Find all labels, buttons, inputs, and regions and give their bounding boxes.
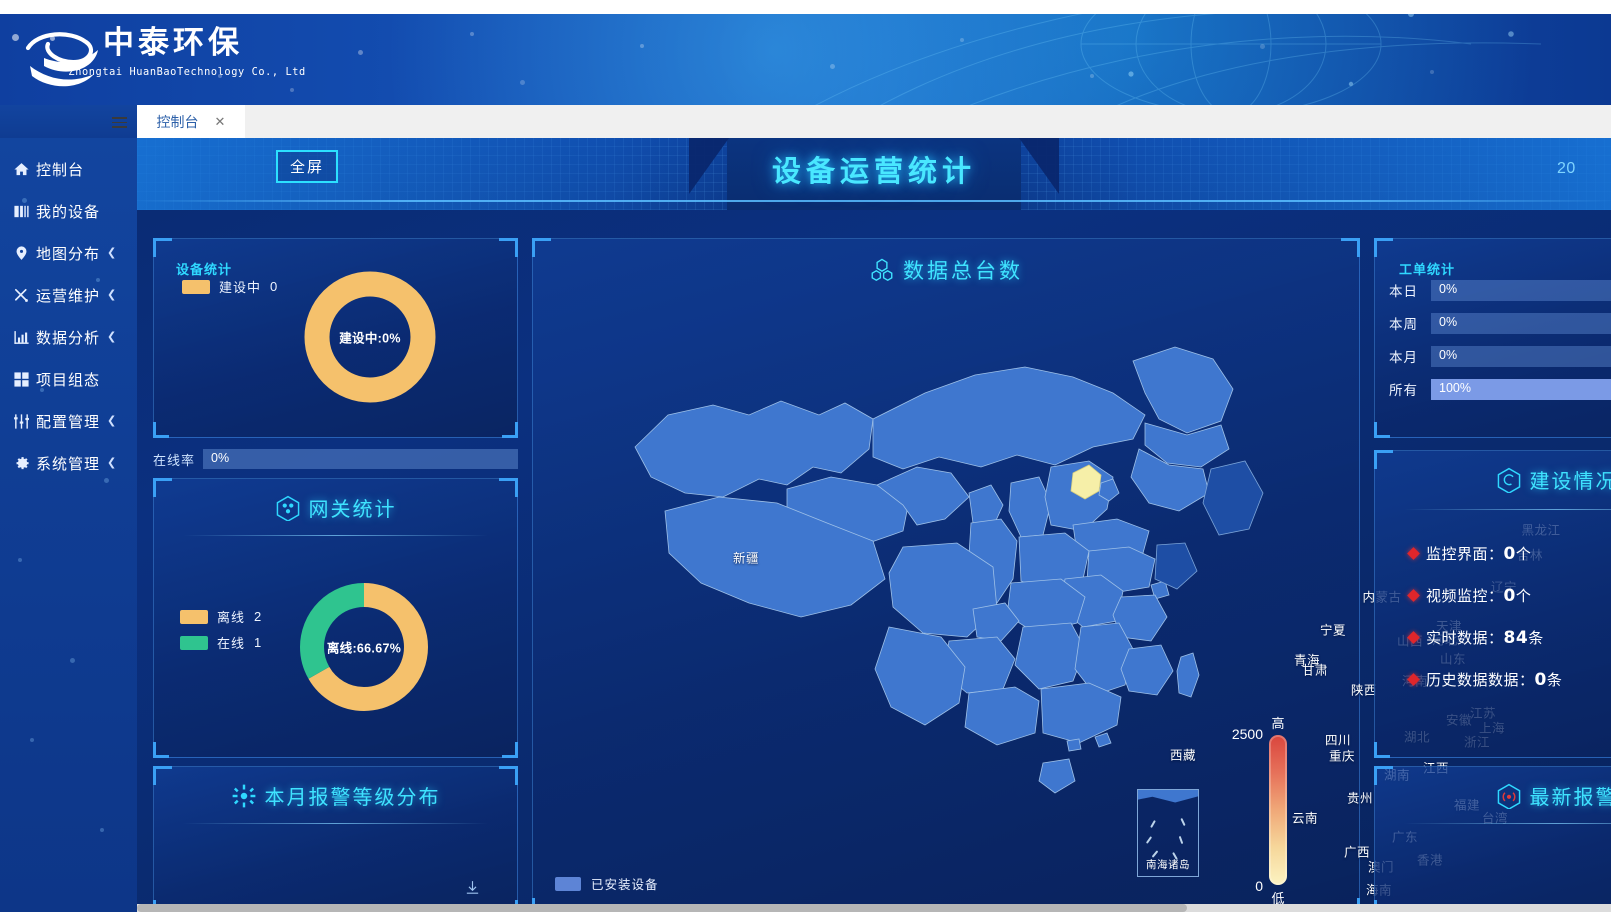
gateway-donut-chart: 离线:66.67% — [292, 575, 436, 719]
sidebar-item-label: 控制台 — [36, 159, 84, 180]
gateway-stats-title: 网关统计 — [309, 493, 397, 522]
scrollbar-thumb[interactable] — [137, 904, 1187, 912]
alarm-burst-icon — [231, 783, 257, 809]
map-panel-header: 数据总台数 — [533, 255, 1359, 285]
fullscreen-button[interactable]: 全屏 — [276, 150, 338, 183]
bullet-diamond-icon — [1407, 631, 1420, 644]
build-status-panel: 建设情况 监控界面：0个 视频监控：0个 实时数据：84条 历史 — [1374, 450, 1611, 758]
legend-swatch — [180, 610, 208, 624]
app-root: 中泰环保 Zhongtai HuanBaoTechnology Co., Ltd… — [0, 0, 1611, 912]
gateway-donut-center-label: 离线:66.67% — [292, 638, 436, 657]
chevron-icon: ❮ — [107, 290, 116, 301]
build-status-list: 监控界面：0个 视频监控：0个 实时数据：84条 历史数据数据：0条 — [1409, 543, 1562, 711]
china-map-svg[interactable] — [573, 297, 1333, 857]
province-label: 广西 — [1344, 842, 1370, 861]
online-rate-value: 0% — [211, 451, 229, 465]
gear-icon — [6, 455, 36, 472]
dashboard-stage: 设备运营统计 20 全屏 设备统计 建设中 0 建设中:0% 在线率 — [137, 138, 1611, 904]
latest-alarm-title: 最新报警 — [1530, 781, 1611, 810]
bullet-diamond-icon — [1407, 673, 1420, 686]
build-status-header: 建设情况 — [1375, 451, 1611, 494]
alarm-distribution-title: 本月报警等级分布 — [265, 781, 441, 810]
chevron-icon: ❮ — [107, 416, 116, 427]
work-order-row: 本月 0% — [1389, 345, 1611, 367]
nanhai-label: 南海诸岛 — [1138, 857, 1198, 872]
tools-icon — [6, 287, 36, 304]
sidebar-item-map-distribution[interactable]: 地图分布 ❮ — [0, 232, 137, 274]
row-bar: 0% — [1431, 280, 1611, 301]
list-item: 历史数据数据：0条 — [1409, 669, 1562, 690]
scale-min-value: 0 — [1255, 878, 1263, 894]
hex-cluster-icon — [869, 257, 895, 283]
sidebar-item-label: 系统管理 — [36, 453, 100, 474]
device-stats-legend: 建设中 0 — [182, 277, 278, 296]
hamburger-icon[interactable] — [112, 117, 127, 128]
legend-value: 2 — [254, 609, 262, 624]
chart-icon — [6, 329, 36, 346]
device-stats-panel: 设备统计 建设中 0 建设中:0% — [153, 238, 518, 438]
chevron-icon: ❮ — [107, 248, 116, 259]
legend-label: 建设中 — [219, 277, 261, 296]
legend-label: 离线 — [217, 607, 245, 626]
chevron-icon: ❮ — [107, 458, 116, 469]
row-value: 0% — [1439, 348, 1457, 362]
row-bar: 0% — [1431, 313, 1611, 334]
china-map[interactable]: 新疆黑龙江吉林辽宁内蒙古天津宁夏山西河北山东青海甘肃河南陕西安徽江苏上海浙江四川… — [573, 297, 1333, 857]
legend-label: 在线 — [217, 633, 245, 652]
sidebar-item-label: 项目组态 — [36, 369, 100, 390]
sidebar-item-operation-maintenance[interactable]: 运营维护 ❮ — [0, 274, 137, 316]
legend-item: 在线 1 — [180, 633, 262, 652]
nanhai-islands-inset: 南海诸岛 — [1137, 789, 1199, 877]
row-value: 0% — [1439, 315, 1457, 329]
hex-spiral-icon — [1496, 467, 1522, 493]
row-bar: 0% — [1431, 346, 1611, 367]
download-icon[interactable] — [464, 879, 481, 901]
map-panel-title: 数据总台数 — [903, 255, 1023, 285]
list-item: 监控界面：0个 — [1409, 543, 1562, 564]
online-rate-row: 在线率 0% — [153, 448, 518, 470]
province-label: 贵州 — [1347, 788, 1373, 807]
item-text: 监控界面：0个 — [1426, 543, 1531, 564]
sidebar-item-label: 地图分布 — [36, 243, 100, 264]
brand-name-cn: 中泰环保 — [103, 28, 243, 59]
row-label: 本月 — [1389, 346, 1423, 366]
legend-item: 离线 2 — [180, 607, 262, 626]
brand-name-en: Zhongtai HuanBaoTechnology Co., Ltd — [68, 66, 305, 78]
sidebar-item-data-analysis[interactable]: 数据分析 ❮ — [0, 316, 137, 358]
tab-bar: 控制台 ✕ — [0, 105, 1611, 138]
sidebar-item-label: 配置管理 — [36, 411, 100, 432]
sidebar-item-my-devices[interactable]: 我的设备 — [0, 190, 137, 232]
list-item: 视频监控：0个 — [1409, 585, 1562, 606]
sidebar-item-project-configuration[interactable]: 项目组态 — [0, 358, 137, 400]
device-donut-center-label: 建设中:0% — [300, 328, 440, 347]
scale-max-value: 2500 — [1232, 726, 1263, 742]
map-legend: 已安装设备 — [555, 874, 659, 893]
item-text: 视频监控：0个 — [1426, 585, 1531, 606]
online-rate-label: 在线率 — [153, 450, 195, 469]
tab-console-label: 控制台 — [157, 112, 199, 132]
bullet-diamond-icon — [1407, 547, 1420, 560]
row-label: 本日 — [1389, 280, 1423, 300]
sidebar-item-label: 我的设备 — [36, 201, 100, 222]
sidebar-item-console[interactable]: 控制台 — [0, 148, 137, 190]
latest-alarm-panel: 最新报警 — [1374, 766, 1611, 904]
device-stats-title: 设备统计 — [176, 259, 232, 278]
sidebar-item-config-management[interactable]: 配置管理 ❮ — [0, 400, 137, 442]
scale-high-label: 高 — [1271, 713, 1284, 732]
sliders-icon — [6, 413, 36, 430]
row-value: 100% — [1439, 381, 1471, 395]
chevron-icon: ❮ — [107, 332, 116, 343]
row-value: 0% — [1439, 282, 1457, 296]
hex-radar-icon — [1496, 783, 1522, 809]
map-panel: 数据总台数 — [532, 238, 1360, 904]
device-donut-chart: 建设中:0% — [300, 267, 440, 407]
bullet-diamond-icon — [1407, 589, 1420, 602]
work-order-row: 本日 0% — [1389, 279, 1611, 301]
page-title: 设备运营统计 — [137, 148, 1611, 190]
item-text: 历史数据数据：0条 — [1426, 669, 1562, 690]
sidebar: 控制台 我的设备 地图分布 ❮ 运营维护 — [0, 138, 137, 912]
gateway-stats-header: 网关统计 — [154, 479, 517, 522]
map-pin-icon — [6, 245, 36, 262]
horizontal-scrollbar[interactable] — [137, 904, 1611, 912]
hex-network-icon — [275, 495, 301, 521]
gateway-stats-panel: 网关统计 离线 2 在线 1 — [153, 478, 518, 758]
dashboard-header: 设备运营统计 20 — [137, 138, 1611, 210]
brand-banner: 中泰环保 Zhongtai HuanBaoTechnology Co., Ltd — [0, 14, 1611, 105]
map-legend-label: 已安装设备 — [591, 874, 659, 893]
work-order-panel: 工单统计 本日 0% 本周 0% 本月 0% — [1374, 238, 1611, 438]
latest-alarm-header: 最新报警 — [1375, 767, 1611, 810]
sidebar-item-label: 数据分析 — [36, 327, 100, 348]
sidebar-item-system-management[interactable]: 系统管理 ❮ — [0, 442, 137, 484]
legend-value: 0 — [270, 279, 278, 294]
grid-icon — [6, 371, 36, 388]
sidebar-item-label: 运营维护 — [36, 285, 100, 306]
legend-swatch — [555, 877, 581, 891]
row-label: 所有 — [1389, 379, 1423, 399]
legend-swatch — [182, 280, 210, 294]
legend-value: 1 — [254, 635, 262, 650]
list-item: 实时数据：84条 — [1409, 627, 1562, 648]
home-icon — [6, 161, 36, 178]
gateway-legend: 离线 2 在线 1 — [180, 607, 262, 659]
alarm-distribution-header: 本月报警等级分布 — [154, 767, 517, 810]
device-icon — [6, 203, 36, 220]
header-datetime: 20 — [1557, 160, 1605, 178]
tab-console[interactable]: 控制台 ✕ — [137, 105, 245, 138]
row-bar: 100% — [1431, 379, 1611, 400]
work-order-title: 工单统计 — [1399, 259, 1455, 278]
row-label: 本周 — [1389, 313, 1423, 333]
alarm-distribution-panel: 本月报警等级分布 — [153, 766, 518, 904]
work-order-row: 本周 0% — [1389, 312, 1611, 334]
close-icon[interactable]: ✕ — [215, 114, 226, 130]
item-text: 实时数据：84条 — [1426, 627, 1544, 648]
map-color-scale: 高 低 2500 0 — [1269, 735, 1287, 885]
legend-swatch — [180, 636, 208, 650]
online-rate-bar: 0% — [203, 449, 518, 469]
build-status-title: 建设情况 — [1530, 465, 1611, 494]
header-underline — [137, 200, 1611, 202]
work-order-row: 所有 100% — [1389, 378, 1611, 400]
scale-low-label: 低 — [1271, 888, 1284, 904]
top-white-strip — [0, 0, 1611, 14]
